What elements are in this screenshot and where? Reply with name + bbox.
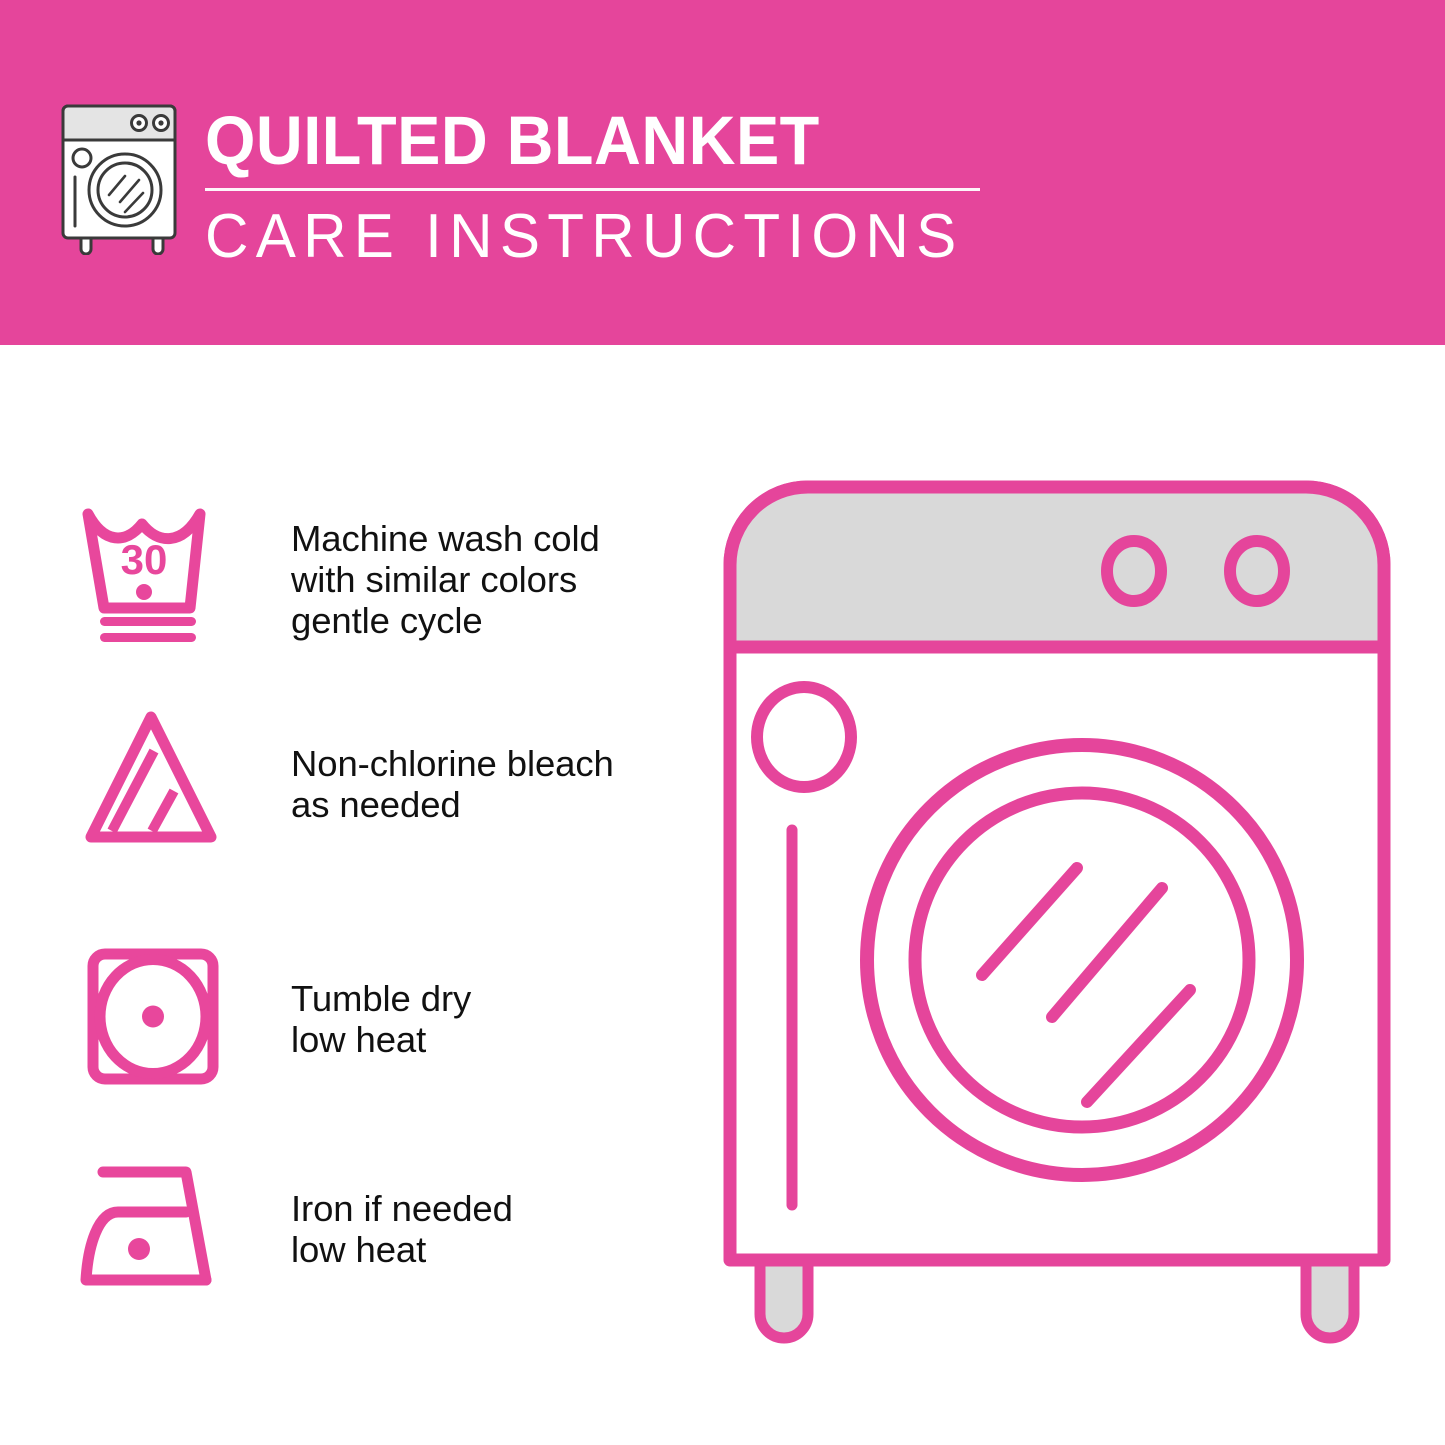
- wash-tub-30-gentle-icon: 30: [78, 500, 223, 650]
- washing-machine-icon: [57, 100, 189, 255]
- non-chlorine-bleach-triangle-icon: [78, 705, 223, 855]
- header-text-block: QUILTED BLANKET CARE INSTRUCTIONS: [205, 104, 995, 271]
- instruction-line: as needed: [291, 784, 691, 825]
- instruction-line: with similar colors: [291, 559, 691, 600]
- instruction-line: Non-chlorine bleach: [291, 743, 691, 784]
- instruction-line: low heat: [291, 1229, 691, 1270]
- instruction-line: low heat: [291, 1019, 691, 1060]
- instruction-row-tumble-dry: Tumble dry low heat: [0, 940, 700, 1090]
- page-title: QUILTED BLANKET: [205, 104, 948, 178]
- iron-low-heat-icon: [78, 1150, 223, 1300]
- instruction-text-wash: Machine wash cold with similar colors ge…: [291, 518, 691, 641]
- instruction-row-bleach: Non-chlorine bleach as needed: [0, 705, 700, 855]
- instruction-line: Tumble dry: [291, 978, 691, 1019]
- instruction-text-iron: Iron if needed low heat: [291, 1188, 691, 1270]
- front-load-washing-machine-illustration: [712, 470, 1402, 1370]
- instruction-line: gentle cycle: [291, 600, 691, 641]
- instruction-text-bleach: Non-chlorine bleach as needed: [291, 743, 691, 825]
- instruction-row-wash: 30 Machine wash cold with similar colors…: [0, 500, 700, 650]
- instruction-text-tumble-dry: Tumble dry low heat: [291, 978, 691, 1060]
- knob-right: [1230, 541, 1284, 601]
- instruction-row-iron: Iron if needed low heat: [0, 1150, 700, 1300]
- instruction-line: Iron if needed: [291, 1188, 691, 1229]
- detergent-dispenser: [757, 687, 851, 787]
- wash-temperature-label: 30: [121, 536, 168, 583]
- header-band: QUILTED BLANKET CARE INSTRUCTIONS: [0, 0, 1445, 345]
- knob-left: [1107, 541, 1161, 601]
- page-subtitle: CARE INSTRUCTIONS: [205, 203, 971, 271]
- title-divider: [205, 188, 980, 191]
- care-instructions-page: QUILTED BLANKET CARE INSTRUCTIONS 30: [0, 0, 1445, 1445]
- instruction-list: 30 Machine wash cold with similar colors…: [0, 345, 700, 1445]
- drum-inner-ring: [915, 793, 1249, 1127]
- instruction-line: Machine wash cold: [291, 518, 691, 559]
- tumble-dry-low-icon: [78, 940, 223, 1090]
